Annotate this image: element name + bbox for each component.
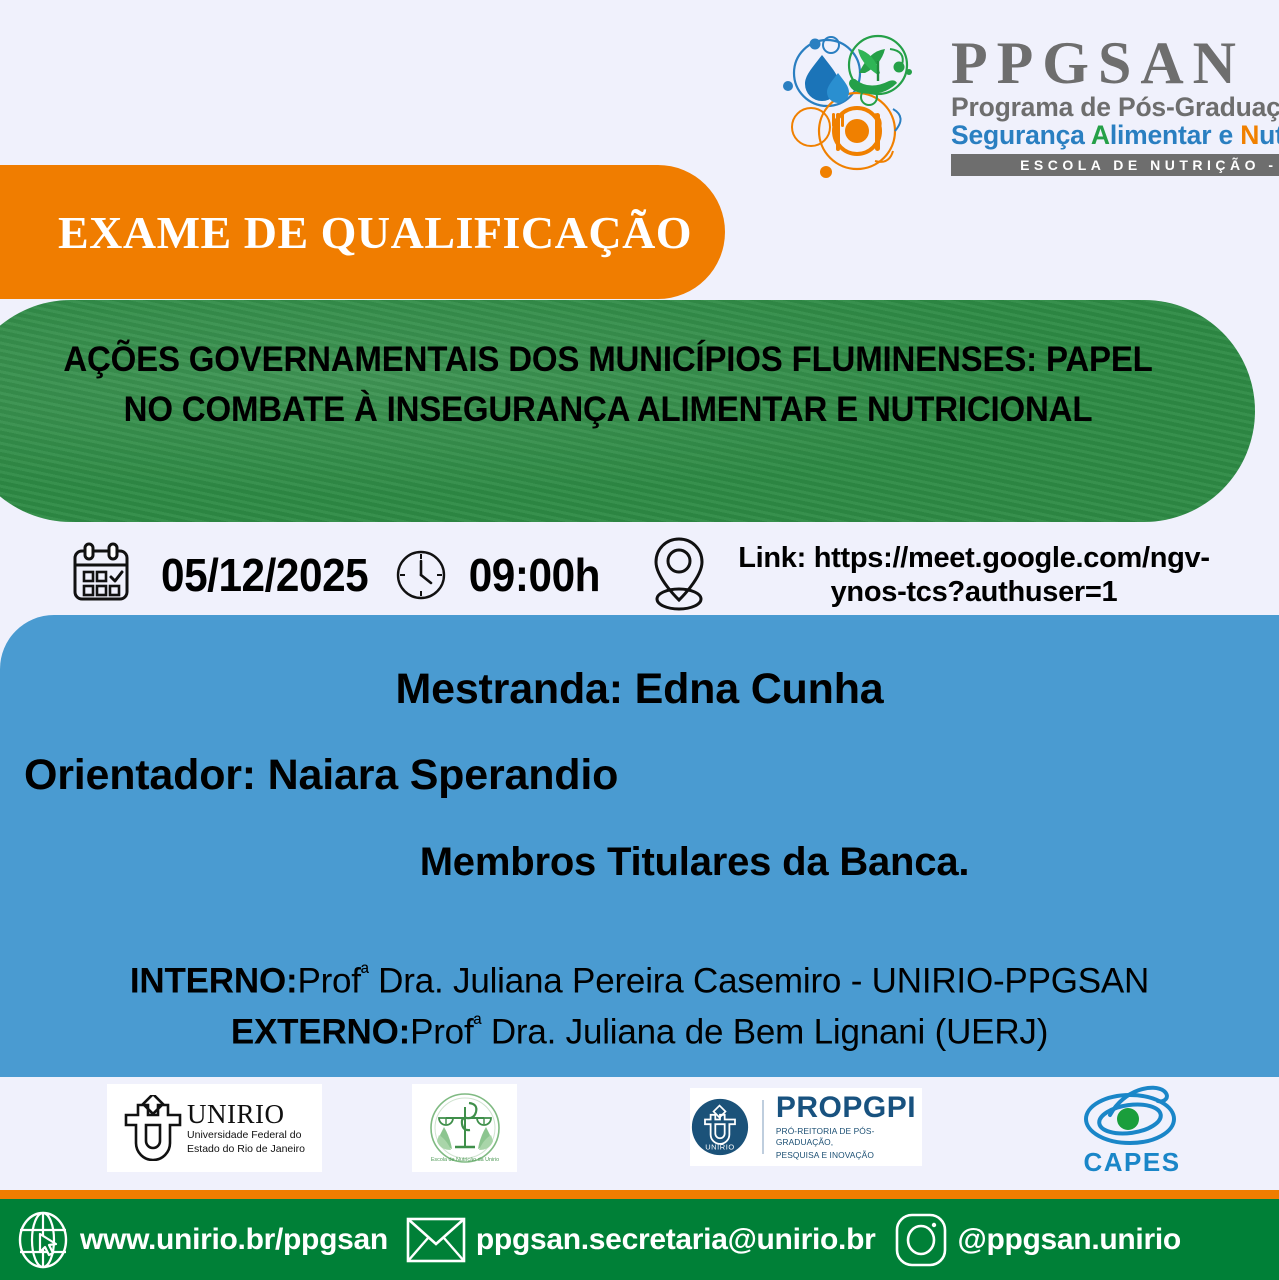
- date-info: 05/12/2025: [0, 542, 377, 608]
- footer-contact-bar: www.unirio.br/ppgsan ppgsan.secretaria@u…: [0, 1199, 1279, 1280]
- meeting-link-line1: Link: https://meet.google.com/ngv-: [738, 542, 1210, 574]
- ppgsan-subtitle-line1: Programa de Pós-Graduação em: [951, 94, 1279, 122]
- member-external-name: Dra. Juliana de Bem Lignani (UERJ): [481, 1013, 1048, 1052]
- unirio-name: UNIRIO: [187, 1101, 305, 1128]
- thesis-title-block: AÇÕES GOVERNAMENTAIS DOS MUNICÍPIOS FLUM…: [0, 300, 1255, 522]
- ppgsan-header-logo: PPGSAN Programa de Pós-Graduação em Segu…: [775, 28, 1265, 183]
- ppgsan-limentar: limentar e: [1110, 120, 1240, 150]
- propgpi-badge-label: UNIRIO: [705, 1142, 735, 1151]
- thesis-title-line2: NO COMBATE À INSEGURANÇA ALIMENTAR E NUT…: [50, 384, 1166, 434]
- member-external-prefix: Prof: [410, 1013, 473, 1052]
- ppgsan-acronym: PPGSAN: [951, 35, 1279, 92]
- member-internal-sup: ª: [361, 960, 369, 985]
- sponsor-logo-strip: UNIRIO Universidade Federal do Estado do…: [0, 1077, 1279, 1190]
- unirio-mark-icon: [124, 1095, 182, 1161]
- capes-name: CAPES: [1083, 1149, 1180, 1175]
- event-info-row: 05/12/2025 09:00h Link: https://m: [0, 525, 1279, 625]
- propgpi-sub-line2: PESQUISA E INOVAÇÃO: [776, 1150, 922, 1161]
- propgpi-logo: UNIRIO PROPGPI PRÓ-REITORIA DE PÓS-GRADU…: [690, 1088, 922, 1166]
- event-time: 09:00h: [469, 548, 600, 602]
- envelope-icon: [406, 1216, 466, 1264]
- globe-icon: [16, 1210, 70, 1270]
- footer-instagram[interactable]: @ppgsan.unirio: [894, 1211, 1181, 1269]
- footer-email[interactable]: ppgsan.secretaria@unirio.br: [406, 1216, 876, 1264]
- member-internal: INTERNO:Profª Dra. Juliana Pereira Casem…: [0, 960, 1279, 1002]
- propgpi-name: PROPGPI: [776, 1093, 922, 1123]
- ppgsan-utricional: utricional: [1259, 120, 1279, 150]
- ppgsan-subtitle-line2: Segurança Alimentar e Nutricional: [951, 122, 1279, 150]
- footer-website[interactable]: www.unirio.br/ppgsan: [16, 1210, 388, 1270]
- footer-instagram-text: @ppgsan.unirio: [958, 1223, 1181, 1257]
- propgpi-divider: [762, 1100, 764, 1154]
- location-info: Link: https://meet.google.com/ngv- ynos-…: [606, 534, 1224, 616]
- ppgsan-school-band: ESCOLA DE NUTRIÇÃO - UNIRIO: [951, 154, 1279, 176]
- location-pin-icon: [648, 534, 710, 616]
- event-date: 05/12/2025: [161, 548, 368, 602]
- escola-nutricao-label: Escola de Nutrição da Unirio: [430, 1157, 498, 1163]
- capes-logo: CAPES: [1064, 1082, 1200, 1176]
- thesis-title: AÇÕES GOVERNAMENTAIS DOS MUNICÍPIOS FLUM…: [50, 334, 1166, 435]
- footer-accent-bar: [0, 1190, 1279, 1199]
- advisor-name: Orientador: Naiara Sperandio: [24, 751, 618, 800]
- member-internal-prefix: Prof: [297, 962, 360, 1001]
- member-internal-role: INTERNO:: [130, 962, 298, 1001]
- ppgsan-logo-text: PPGSAN Programa de Pós-Graduação em Segu…: [951, 35, 1279, 176]
- meeting-link[interactable]: Link: https://meet.google.com/ngv- ynos-…: [724, 541, 1224, 609]
- meeting-link-line2: ynos-tcs?authuser=1: [831, 576, 1118, 608]
- instagram-icon: [894, 1211, 948, 1269]
- propgpi-badge-icon: UNIRIO: [690, 1095, 750, 1159]
- ppgsan-a: A: [1091, 120, 1110, 150]
- member-external: EXTERNO:Profª Dra. Juliana de Bem Lignan…: [0, 1011, 1279, 1053]
- student-name: Mestranda: Edna Cunha: [0, 665, 1279, 714]
- participants-panel: Mestranda: Edna Cunha Orientador: Naiara…: [0, 615, 1279, 1077]
- footer-email-text: ppgsan.secretaria@unirio.br: [476, 1223, 876, 1257]
- escola-nutricao-logo: Escola de Nutrição da Unirio: [412, 1084, 517, 1172]
- thesis-title-line1: AÇÕES GOVERNAMENTAIS DOS MUNICÍPIOS FLUM…: [50, 334, 1166, 384]
- unirio-sub-line2: Estado do Rio de Janeiro: [187, 1143, 305, 1155]
- propgpi-sub-line1: PRÓ-REITORIA DE PÓS-GRADUAÇÃO,: [776, 1126, 922, 1147]
- time-info: 09:00h: [377, 547, 606, 603]
- clock-icon: [393, 547, 449, 603]
- members-heading: Membros Titulares da Banca.: [0, 840, 1279, 885]
- ppgsan-logo-marks: [775, 31, 945, 181]
- unirio-logo: UNIRIO Universidade Federal do Estado do…: [107, 1084, 322, 1172]
- calendar-icon: [68, 542, 134, 608]
- footer-website-text: www.unirio.br/ppgsan: [80, 1223, 388, 1257]
- unirio-sub-line1: Universidade Federal do: [187, 1129, 305, 1141]
- ppgsan-seguranca: Segurança: [951, 120, 1091, 150]
- ppgsan-n: N: [1240, 120, 1259, 150]
- exam-type-label: EXAME DE QUALIFICAÇÃO: [58, 206, 692, 259]
- exam-type-banner: EXAME DE QUALIFICAÇÃO: [0, 165, 725, 299]
- member-internal-name: Dra. Juliana Pereira Casemiro - UNIRIO-P…: [369, 962, 1149, 1001]
- ppgsan-emblem-icon: [775, 31, 945, 181]
- member-external-role: EXTERNO:: [231, 1013, 410, 1052]
- capes-orbit-icon: [1072, 1083, 1192, 1151]
- escola-nutricao-seal-icon: Escola de Nutrição da Unirio: [422, 1085, 508, 1171]
